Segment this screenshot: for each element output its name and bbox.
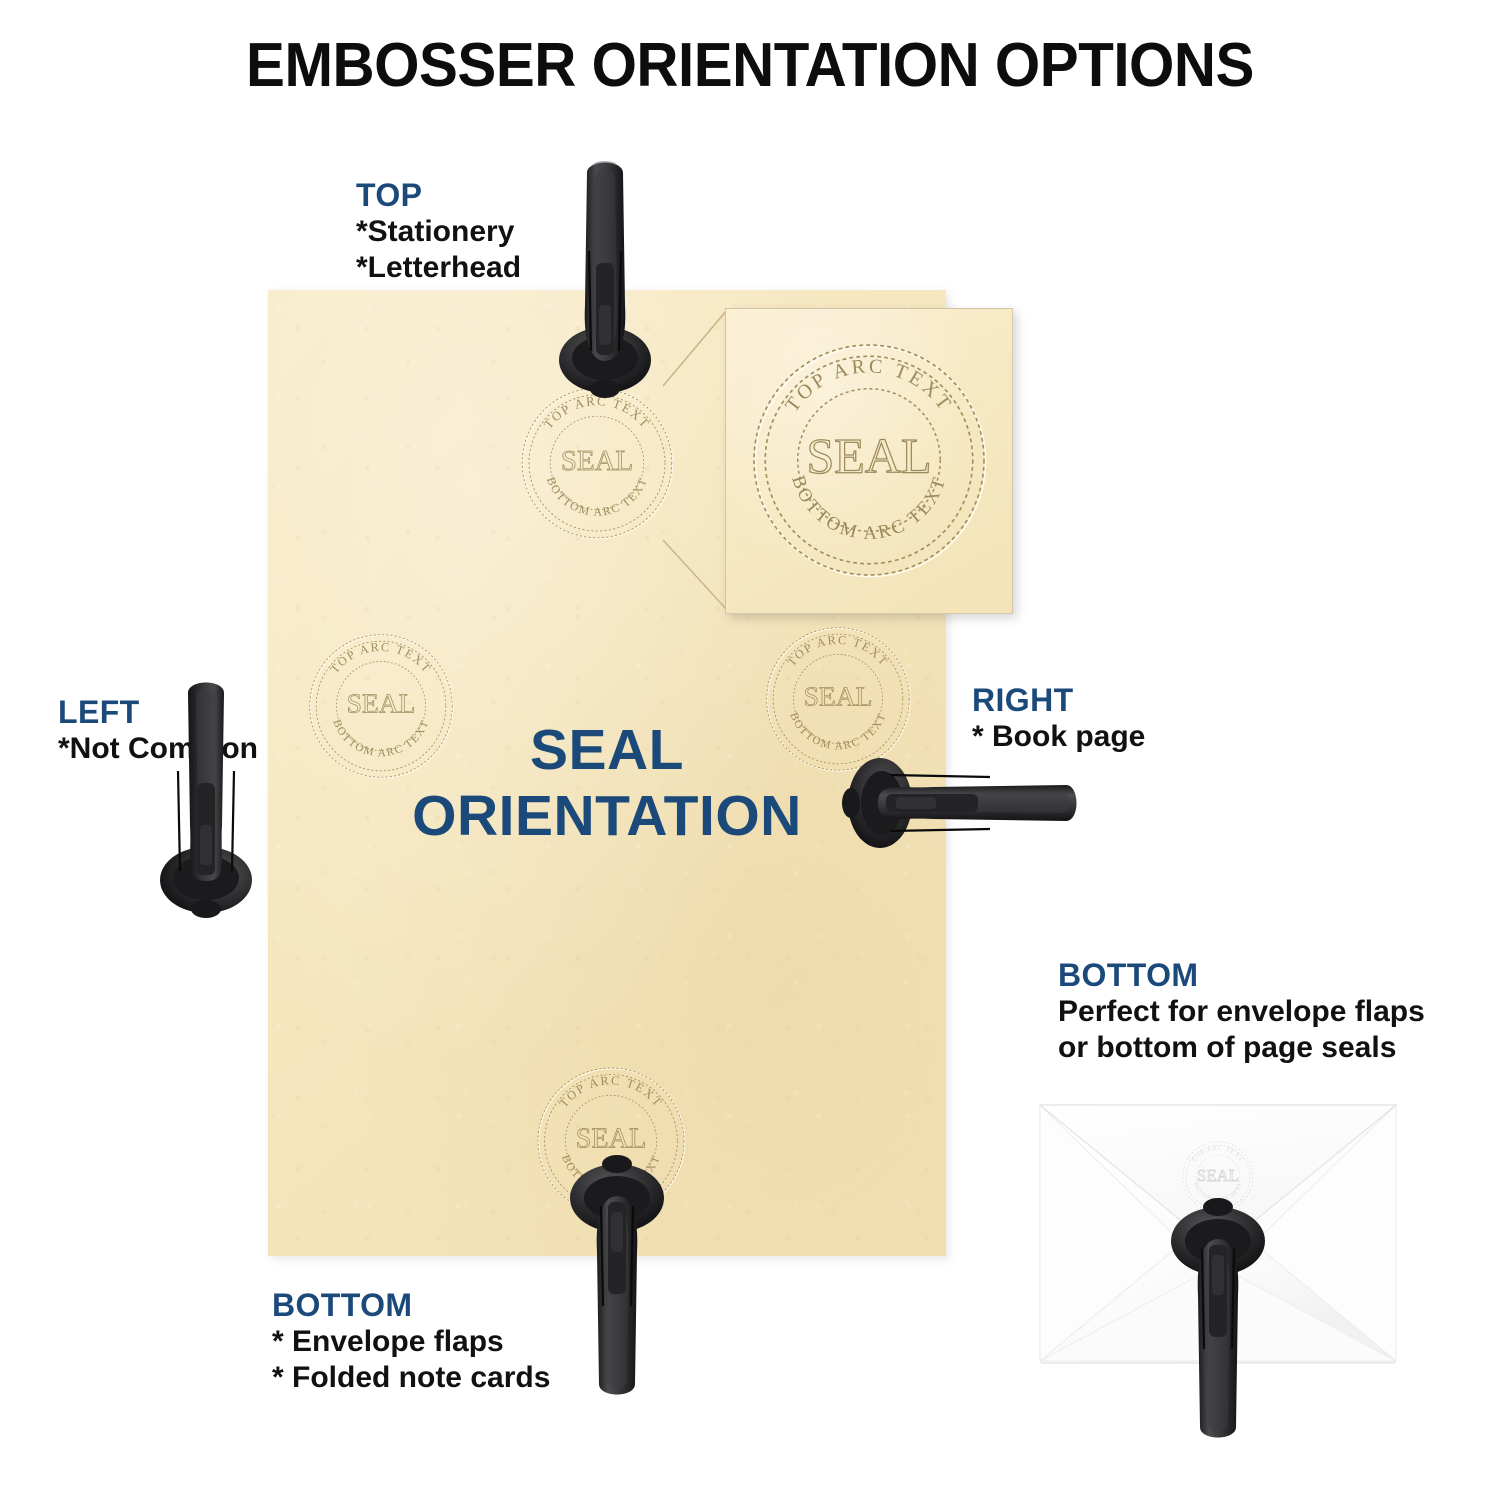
embosser-top [555, 155, 655, 400]
label-bottom-left-line-2: * Folded note cards [272, 1360, 550, 1396]
seal-top-arc-text: TOP ARC TEXT [781, 355, 957, 416]
label-bottom-left-line-1: * Envelope flaps [272, 1324, 550, 1360]
svg-text:TOP ARC TEXT: TOP ARC TEXT [781, 355, 957, 416]
label-bottom-right-line-1: Perfect for envelope flaps [1058, 994, 1425, 1030]
seal-center-text: SEAL [1197, 1166, 1239, 1185]
label-bottom-left-heading: BOTTOM [272, 1288, 550, 1324]
label-bottom-left: BOTTOM * Envelope flaps * Folded note ca… [272, 1288, 550, 1396]
label-bottom-right-line-2: or bottom of page seals [1058, 1030, 1425, 1066]
label-bottom-right: BOTTOM Perfect for envelope flaps or bot… [1058, 958, 1425, 1066]
svg-text:BOTTOM ARC TEXT: BOTTOM ARC TEXT [787, 473, 951, 544]
headline-line-1: SEAL [530, 718, 684, 782]
label-top-heading: TOP [356, 178, 521, 214]
label-right-heading: RIGHT [972, 683, 1145, 719]
label-bottom-right-heading: BOTTOM [1058, 958, 1425, 994]
seal-center-text: SEAL [807, 428, 932, 484]
embossed-seal-magnified: TOP ARC TEXT BOTTOM ARC TEXT SEAL [744, 335, 994, 585]
embosser-bottom [562, 1148, 672, 1406]
embosser-right [838, 747, 1086, 859]
magnified-seal-callout: TOP ARC TEXT BOTTOM ARC TEXT SEAL [725, 308, 1013, 614]
envelope-figure: TOP ARC TEXT BOTTOM ARC TEXT SEAL [1030, 1093, 1430, 1473]
label-top: TOP *Stationery *Letterhead [356, 178, 521, 286]
embosser-left [144, 675, 268, 920]
page-title: EMBOSSER ORIENTATION OPTIONS [45, 30, 1455, 101]
label-top-line-1: *Stationery [356, 214, 521, 250]
label-right: RIGHT * Book page [972, 683, 1145, 755]
label-top-line-2: *Letterhead [356, 250, 521, 286]
seal-bottom-arc-text: BOTTOM ARC TEXT [787, 473, 951, 544]
